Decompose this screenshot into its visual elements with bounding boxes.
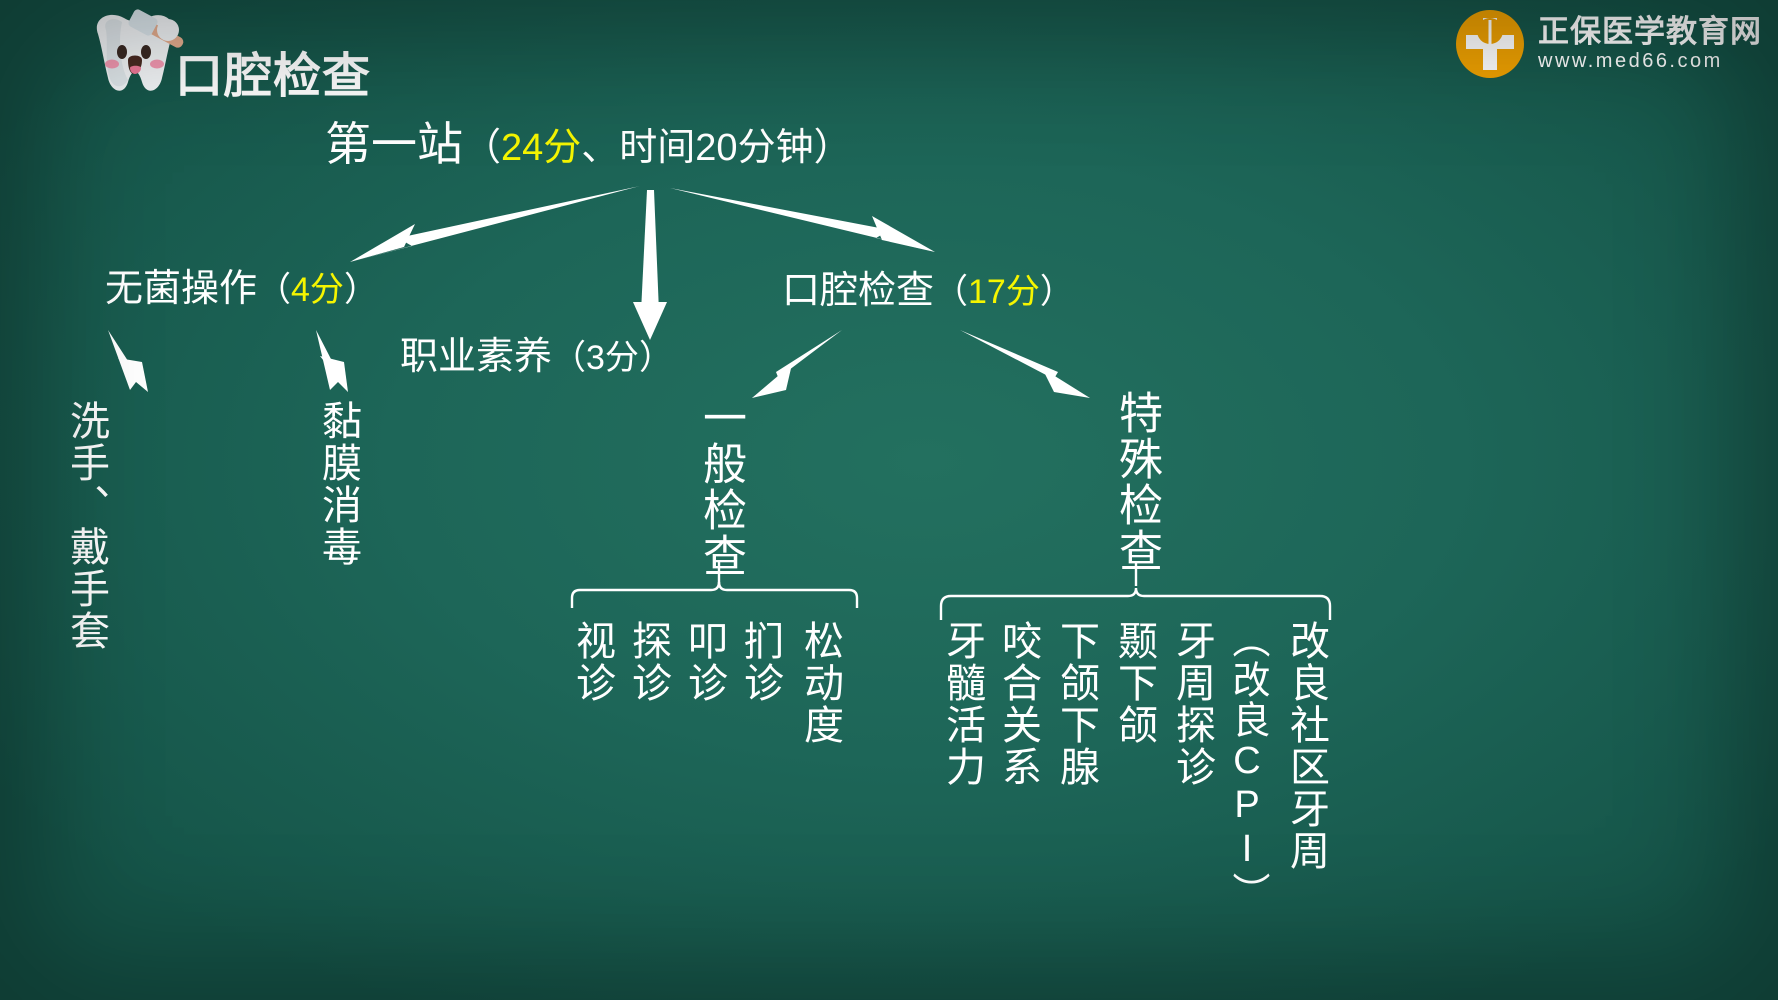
node-professionalism: 职业素养（3分） bbox=[400, 338, 673, 378]
node-professionalism-paren-close: ） bbox=[639, 339, 673, 377]
arrow-root-to-professionalism bbox=[633, 190, 667, 340]
node-aseptic-operation-score: 4分 bbox=[291, 271, 344, 309]
arrow-root-to-aseptic bbox=[350, 186, 640, 262]
leaf-percussion: 叩诊 bbox=[684, 620, 724, 704]
arrow-aseptic-to-handwash bbox=[108, 330, 148, 392]
leaf-inspection: 视诊 bbox=[572, 620, 612, 704]
leaf-modified-cpi: （改良CPI） bbox=[1228, 620, 1266, 912]
node-professionalism-paren-open: （ bbox=[552, 339, 586, 377]
node-station-1: 第一站（24分、时间20分钟） bbox=[325, 120, 852, 169]
leaf-palpation: 扪诊 bbox=[740, 620, 780, 704]
node-aseptic-operation-paren-open: （ bbox=[257, 271, 291, 309]
node-station-1-label: 第一站 bbox=[325, 118, 463, 170]
node-special-examination: 特殊检查 bbox=[1114, 390, 1158, 574]
arrow-oralexam-to-general bbox=[752, 330, 842, 398]
node-professionalism-score: 3分 bbox=[586, 339, 639, 377]
leaf-temporomandibular: 颞下颌 bbox=[1114, 620, 1154, 746]
brand-url: www.med66.com bbox=[1538, 51, 1762, 72]
node-aseptic-operation-label: 无菌操作 bbox=[105, 268, 257, 310]
node-aseptic-operation-paren-close: ） bbox=[344, 271, 378, 309]
leaf-mobility: 松动度 bbox=[800, 620, 840, 746]
brand-logo[interactable]: 正保医学教育网 www.med66.com bbox=[1454, 8, 1762, 80]
leaf-handwash-gloves: 洗手、戴手套 bbox=[66, 400, 106, 652]
node-station-1-score: 24分 bbox=[501, 127, 581, 169]
brand-text-block: 正保医学教育网 www.med66.com bbox=[1538, 16, 1762, 72]
leaf-periodontal-probing: 牙周探诊 bbox=[1172, 620, 1212, 788]
node-aseptic-operation: 无菌操作（4分） bbox=[105, 270, 378, 310]
page-title: 口腔检查 bbox=[175, 36, 371, 106]
leaf-probing: 探诊 bbox=[628, 620, 668, 704]
leaf-modified-community-periodontal: 改良社区牙周 bbox=[1286, 620, 1326, 872]
node-general-examination: 一般检查 bbox=[698, 395, 742, 579]
node-professionalism-label: 职业素养 bbox=[400, 336, 552, 378]
arrow-aseptic-to-mucosa bbox=[316, 330, 348, 392]
node-oral-examination: 口腔检查（17分） bbox=[782, 272, 1074, 312]
med66-cross-circle-icon bbox=[1454, 8, 1526, 80]
slide-canvas: 口腔检查 正保医学教育网 www.med66.com 第一站（24分、时间20分… bbox=[0, 0, 1778, 1000]
leaf-submandibular-gland: 下颌下腺 bbox=[1056, 620, 1096, 788]
leaf-mucosa-disinfection: 黏膜消毒 bbox=[318, 400, 358, 568]
leaf-pulp-vitality: 牙髓活力 bbox=[942, 620, 982, 788]
node-station-1-paren-open: （ bbox=[463, 127, 501, 169]
tooth-with-toothbrush-icon bbox=[62, 4, 192, 104]
brand-name: 正保医学教育网 bbox=[1538, 16, 1762, 49]
arrow-root-to-oralexam bbox=[670, 188, 935, 252]
connector-layer bbox=[0, 0, 1778, 1000]
node-oral-examination-paren-open: （ bbox=[934, 273, 968, 311]
node-oral-examination-label: 口腔检查 bbox=[782, 270, 934, 312]
node-station-1-rest: 、时间20分钟） bbox=[581, 127, 851, 169]
arrow-oralexam-to-special bbox=[960, 330, 1090, 398]
leaf-occlusal-relationship: 咬合关系 bbox=[998, 620, 1038, 788]
node-oral-examination-score: 17分 bbox=[968, 273, 1040, 311]
node-oral-examination-paren-close: ） bbox=[1040, 273, 1074, 311]
